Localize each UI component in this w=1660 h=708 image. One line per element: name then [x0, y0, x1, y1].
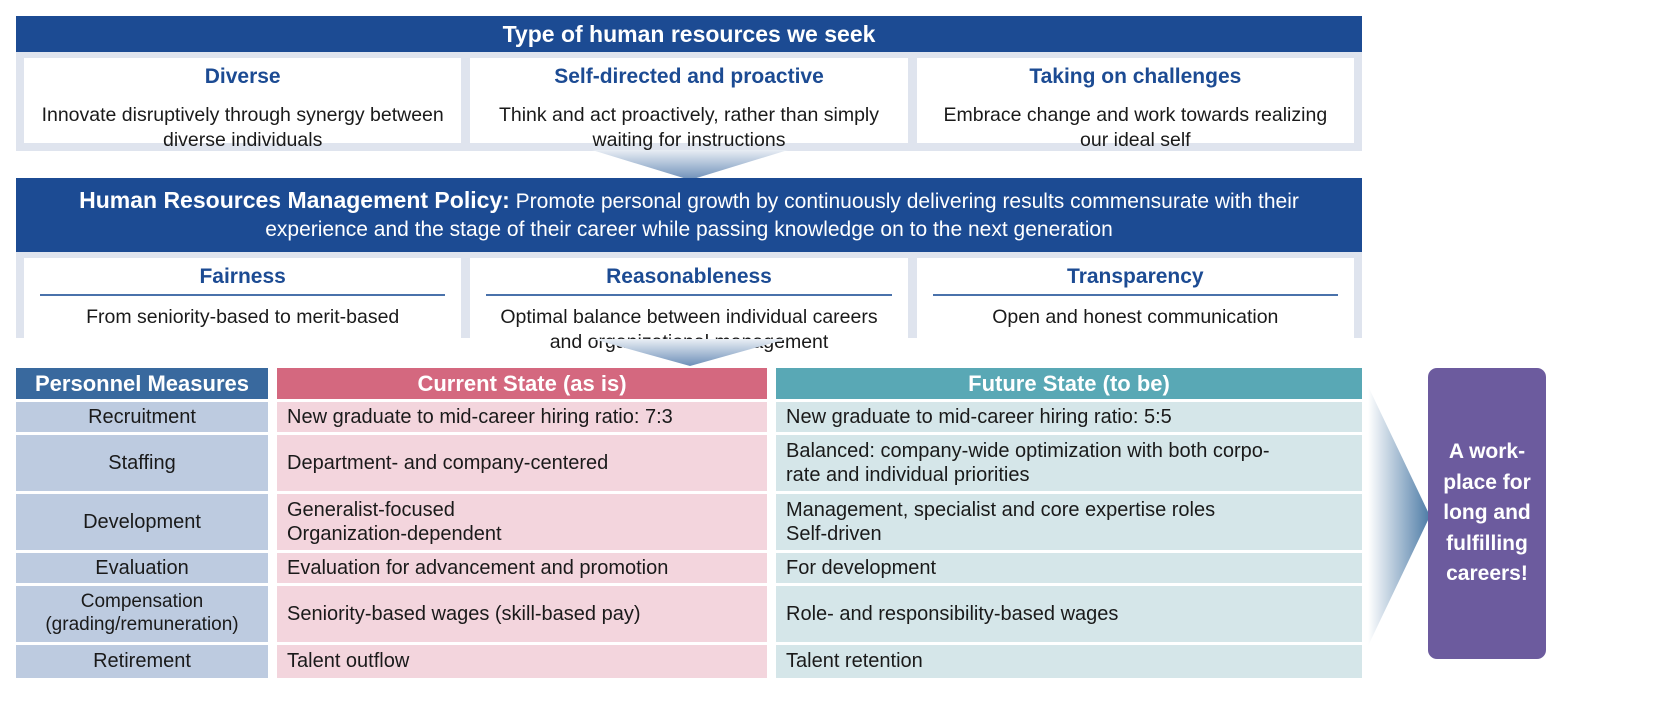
- section-type-of-human-resources: Type of human resources we seek Diverse …: [16, 16, 1362, 151]
- card-transparency-title: Transparency: [931, 264, 1340, 293]
- card-diverse-body: Innovate disruptively through synergy be…: [38, 103, 447, 153]
- section-type-card-list: Diverse Innovate disruptively through sy…: [16, 52, 1362, 151]
- row-measure-staffing: Staffing: [16, 435, 268, 491]
- table-row: Retirement Talent outflow Talent retenti…: [16, 645, 1362, 678]
- row-future-evaluation: For development: [776, 553, 1362, 583]
- card-taking-on-challenges: Taking on challenges Embrace change and …: [917, 58, 1354, 143]
- section-type-banner: Type of human resources we seek: [16, 16, 1362, 52]
- section-hr-management-policy: Human Resources Management Policy: Promo…: [16, 178, 1362, 338]
- card-fairness-title: Fairness: [38, 264, 447, 293]
- card-reasonableness-rule: [486, 294, 891, 296]
- callout-workplace: A work-place for long and fulfilling car…: [1428, 368, 1546, 659]
- card-transparency-rule: [933, 294, 1338, 296]
- section-policy-card-list: Fairness From seniority-based to merit-b…: [16, 252, 1362, 373]
- card-transparency: Transparency Open and honest communicati…: [917, 258, 1354, 365]
- card-reasonableness-title: Reasonableness: [484, 264, 893, 293]
- row-current-compensation: Seniority-based wages (skill-based pay): [277, 586, 767, 642]
- row-measure-development: Development: [16, 494, 268, 550]
- card-self-directed-body: Think and act proactively, rather than s…: [484, 103, 893, 153]
- row-current-retirement: Talent outflow: [277, 645, 767, 678]
- row-current-development: Generalist-focused Organization-dependen…: [277, 494, 767, 550]
- card-reasonableness-body: Optimal balance between individual caree…: [484, 305, 893, 355]
- table-header-row: Personnel Measures Current State (as is)…: [16, 368, 1362, 399]
- row-measure-retirement: Retirement: [16, 645, 268, 678]
- table-header-current-state: Current State (as is): [277, 368, 767, 399]
- row-future-staffing: Balanced: company-wide optimization with…: [776, 435, 1362, 491]
- card-self-directed-title: Self-directed and proactive: [484, 64, 893, 93]
- card-reasonableness: Reasonableness Optimal balance between i…: [470, 258, 907, 365]
- row-future-retirement: Talent retention: [776, 645, 1362, 678]
- row-current-evaluation: Evaluation for advancement and promotion: [277, 553, 767, 583]
- row-current-recruitment: New graduate to mid-career hiring ratio:…: [277, 402, 767, 432]
- row-measure-evaluation: Evaluation: [16, 553, 268, 583]
- arrow-right-icon: [1368, 386, 1430, 646]
- section-policy-banner: Human Resources Management Policy: Promo…: [16, 178, 1362, 252]
- section-policy-banner-label: Human Resources Management Policy:: [79, 187, 510, 213]
- row-future-compensation: Role- and responsibility-based wages: [776, 586, 1362, 642]
- card-taking-on-challenges-body: Embrace change and work towards realizin…: [931, 103, 1340, 153]
- card-diverse-title: Diverse: [38, 64, 447, 93]
- card-transparency-body: Open and honest communication: [931, 305, 1340, 330]
- row-measure-recruitment: Recruitment: [16, 402, 268, 432]
- personnel-measures-table: Personnel Measures Current State (as is)…: [16, 368, 1362, 681]
- table-header-measure: Personnel Measures: [16, 368, 268, 399]
- card-fairness-rule: [40, 294, 445, 296]
- card-taking-on-challenges-title: Taking on challenges: [931, 64, 1340, 93]
- row-future-recruitment: New graduate to mid-career hiring ratio:…: [776, 402, 1362, 432]
- table-header-future-state: Future State (to be): [776, 368, 1362, 399]
- card-diverse: Diverse Innovate disruptively through sy…: [24, 58, 461, 143]
- row-current-staffing: Department- and company-centered: [277, 435, 767, 491]
- row-measure-compensation: Compensation (grading/remuneration): [16, 586, 268, 642]
- table-row: Compensation (grading/remuneration) Seni…: [16, 586, 1362, 642]
- table-row: Evaluation Evaluation for advancement an…: [16, 553, 1362, 583]
- card-self-directed-and-proactive: Self-directed and proactive Think and ac…: [470, 58, 907, 143]
- card-fairness-body: From seniority-based to merit-based: [38, 305, 447, 330]
- row-future-development: Management, specialist and core expertis…: [776, 494, 1362, 550]
- table-row: Recruitment New graduate to mid-career h…: [16, 402, 1362, 432]
- card-fairness: Fairness From seniority-based to merit-b…: [24, 258, 461, 365]
- table-row: Development Generalist-focused Organizat…: [16, 494, 1362, 550]
- arrow-down-icon-1: [570, 150, 810, 180]
- table-row: Staffing Department- and company-centere…: [16, 435, 1362, 491]
